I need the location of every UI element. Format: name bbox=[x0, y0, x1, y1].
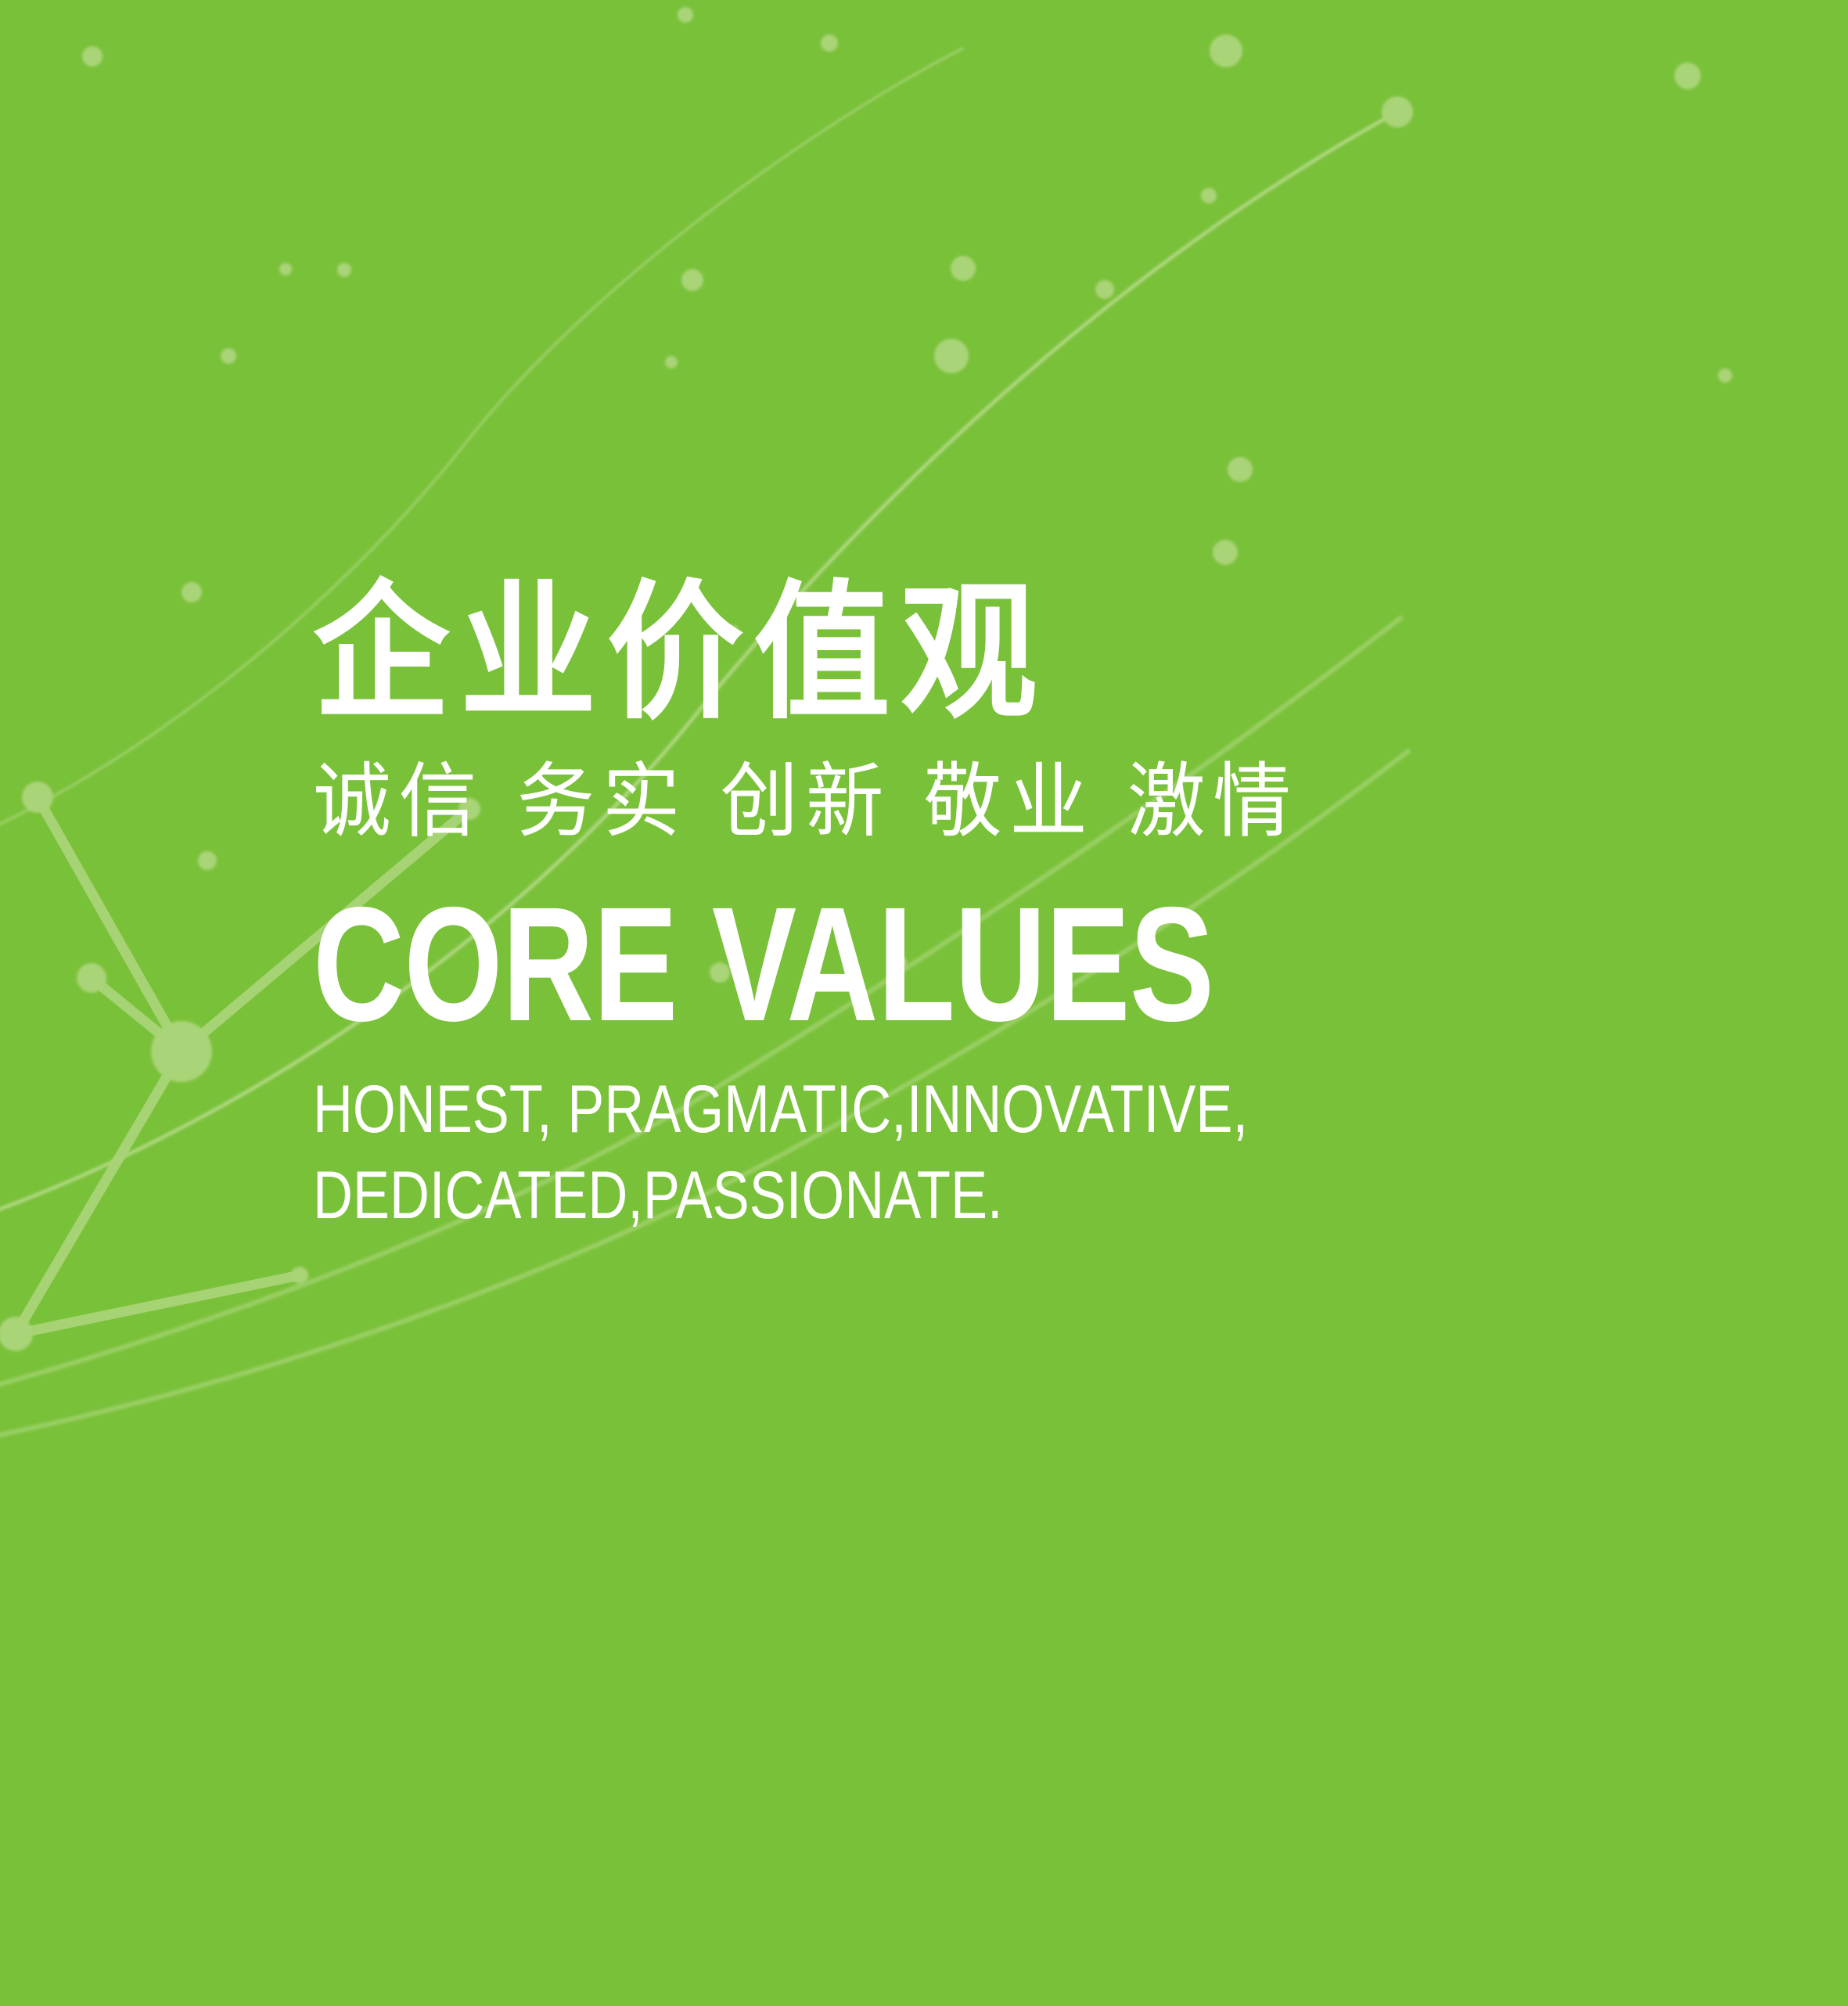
network-node bbox=[221, 348, 236, 364]
network-node bbox=[1228, 457, 1253, 482]
network-node bbox=[82, 46, 102, 67]
network-node bbox=[681, 269, 703, 291]
subtitle-english-values: HONEST, PRAGMATIC,INNOVATIVE, DEDICATED,… bbox=[313, 1066, 1468, 1238]
network-node bbox=[77, 963, 106, 993]
network-node bbox=[0, 1317, 33, 1351]
network-node bbox=[337, 263, 351, 277]
network-node bbox=[198, 851, 217, 870]
network-node bbox=[151, 1021, 212, 1082]
page-title-english: CORE VALUES bbox=[313, 890, 1411, 1040]
network-node bbox=[821, 34, 838, 52]
network-node bbox=[182, 582, 202, 602]
network-node bbox=[22, 782, 53, 813]
network-node bbox=[1201, 188, 1217, 203]
poster-content: 企业价值观 诚信 务实 创新 敬业 激情 CORE VALUES HONEST,… bbox=[313, 579, 1721, 1239]
page-title-chinese: 企业价值观 bbox=[313, 579, 1609, 728]
network-spoke bbox=[92, 978, 182, 1052]
network-node bbox=[934, 339, 969, 373]
network-node bbox=[1382, 96, 1413, 128]
network-node bbox=[1718, 368, 1732, 383]
network-node bbox=[1213, 540, 1238, 565]
network-node bbox=[1674, 63, 1701, 89]
subtitle-chinese-values: 诚信 务实 创新 敬业 激情 bbox=[313, 760, 1665, 842]
network-spoke bbox=[16, 1275, 300, 1334]
poster-canvas: 企业价值观 诚信 务实 创新 敬业 激情 CORE VALUES HONEST,… bbox=[0, 0, 1848, 2006]
network-node bbox=[279, 263, 292, 275]
network-node bbox=[678, 7, 693, 23]
network-node bbox=[951, 256, 976, 281]
subtitle-english-line-2: DEDICATED,PASSIONATE. bbox=[313, 1152, 1468, 1238]
network-spoke bbox=[38, 797, 182, 1052]
network-node bbox=[291, 1267, 308, 1284]
subtitle-english-line-1: HONEST, PRAGMATIC,INNOVATIVE, bbox=[313, 1066, 1468, 1152]
network-node bbox=[1095, 280, 1114, 299]
network-spoke bbox=[16, 1052, 182, 1334]
network-node bbox=[1210, 34, 1242, 67]
network-node bbox=[665, 356, 678, 368]
